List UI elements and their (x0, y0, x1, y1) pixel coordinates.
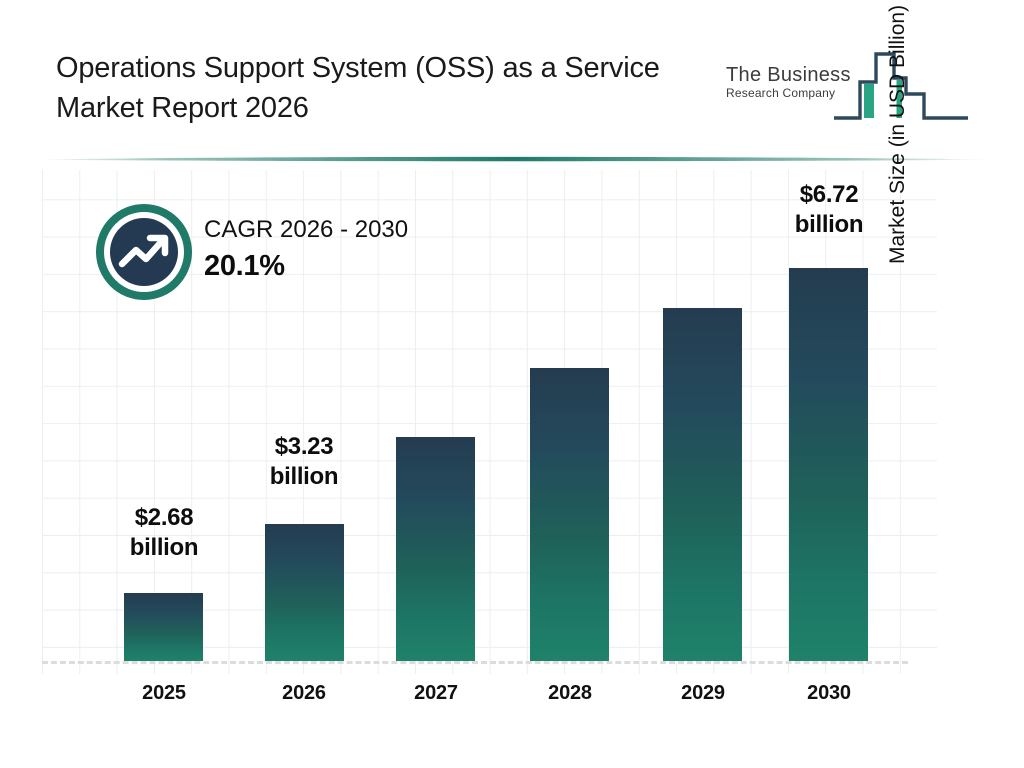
bar-fill (663, 308, 742, 661)
bar-2025[interactable] (124, 593, 203, 661)
bar-fill (530, 368, 609, 661)
cagr-badge: CAGR 2026 - 2030 20.1% (96, 204, 456, 304)
bar-2026[interactable] (265, 524, 344, 661)
x-tick-2029: 2029 (657, 682, 749, 705)
cagr-value-label: 20.1% (204, 246, 408, 286)
bar-2027[interactable] (396, 437, 475, 661)
bar-value-label-2026: $3.23billion (229, 432, 379, 492)
x-tick-2030: 2030 (783, 682, 875, 705)
x-tick-2027: 2027 (390, 682, 482, 705)
x-tick-2025: 2025 (118, 682, 210, 705)
bar-fill (396, 437, 475, 661)
bar-fill (265, 524, 344, 661)
bar-2028[interactable] (530, 368, 609, 661)
bar-2029[interactable] (663, 308, 742, 661)
company-logo: The Business Research Company (726, 38, 976, 124)
x-tick-2026: 2026 (258, 682, 350, 705)
bar-value-label-2030: $6.72billion (754, 180, 904, 240)
bar-chart: $2.68billion $3.23billion $6.72billion 2… (0, 158, 1024, 768)
cagr-period-label: CAGR 2026 - 2030 (204, 214, 408, 246)
bar-fill (789, 268, 868, 661)
x-tick-2028: 2028 (524, 682, 616, 705)
page-title: Operations Support System (OSS) as a Ser… (56, 48, 716, 128)
y-axis-label: Market Size (in USD Billion) (886, 0, 910, 264)
bar-2030[interactable] (789, 268, 868, 661)
header: Operations Support System (OSS) as a Ser… (0, 0, 1024, 158)
bar-fill (124, 593, 203, 661)
axis-baseline (42, 661, 908, 664)
bar-value-label-2025: $2.68billion (98, 503, 230, 563)
trending-up-icon (96, 204, 192, 305)
cagr-text-group: CAGR 2026 - 2030 20.1% (204, 214, 408, 286)
